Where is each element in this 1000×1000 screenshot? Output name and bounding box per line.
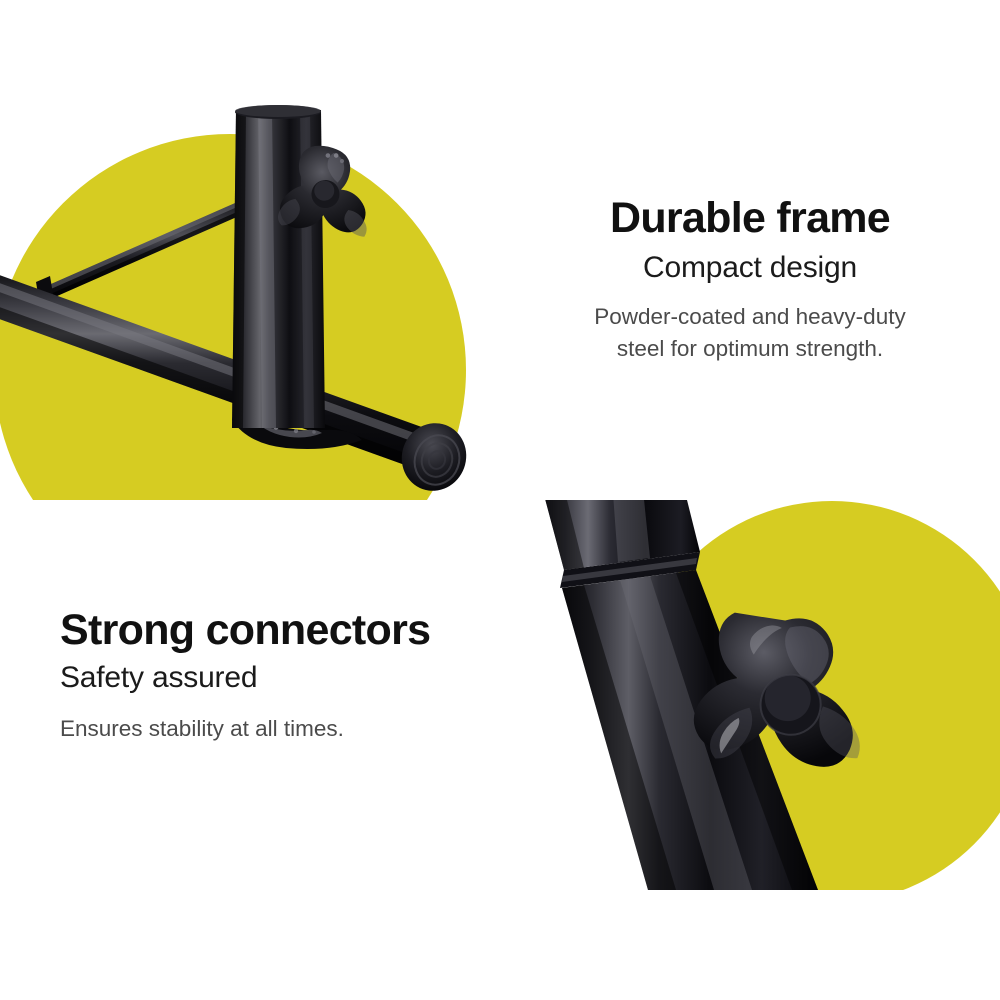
infographic-canvas: Durable frame Compact design Powder-coat…: [0, 0, 1000, 1000]
feature-text-durable-frame: Durable frame Compact design Powder-coat…: [500, 196, 1000, 365]
durable-frame-headline: Durable frame: [514, 196, 986, 241]
panel-strong-connectors-text: Strong connectors Safety assured Ensures…: [0, 500, 500, 1000]
feature-text-strong-connectors: Strong connectors Safety assured Ensures…: [60, 608, 480, 745]
knob-closeup-photo: [500, 500, 1000, 1000]
panel-frame-junction-photo: [0, 0, 500, 500]
knob-closeup-illustration: [500, 500, 1000, 1000]
durable-frame-body-line-1: Powder-coated and heavy-duty: [594, 304, 905, 329]
frame-junction-photo: [0, 0, 500, 500]
panel-knob-closeup-photo: [500, 500, 1000, 1000]
durable-frame-subhead: Compact design: [514, 250, 986, 285]
frame-junction-illustration: [0, 0, 500, 500]
strong-connectors-body: Ensures stability at all times.: [60, 713, 480, 745]
strong-connectors-headline: Strong connectors: [60, 608, 480, 653]
durable-frame-body: Powder-coated and heavy-duty steel for o…: [514, 301, 986, 365]
strong-connectors-subhead: Safety assured: [60, 660, 480, 695]
panel-durable-frame-text: Durable frame Compact design Powder-coat…: [500, 0, 1000, 500]
durable-frame-body-line-2: steel for optimum strength.: [617, 336, 883, 361]
